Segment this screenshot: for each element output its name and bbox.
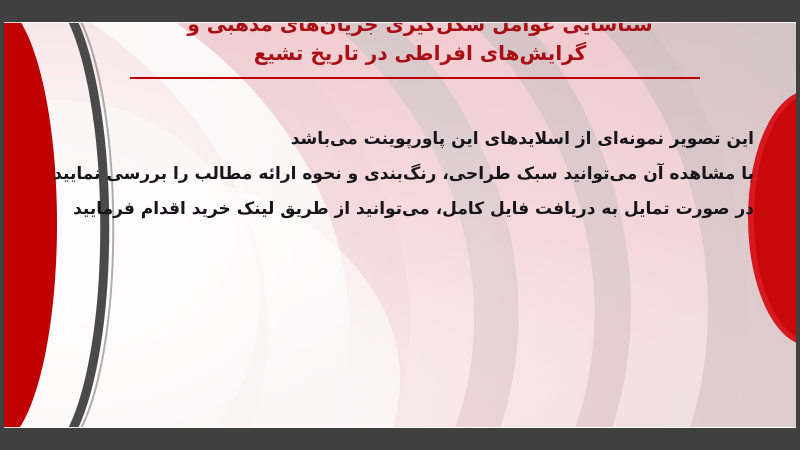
title-underline-rule [130,77,700,79]
frame-border-left [0,0,4,450]
slide-body: این تصویر نمونه‌ای از اسلایدهای این پاور… [94,122,754,227]
frame-border-bottom [0,428,800,450]
slide-canvas: شناسایی عوامل شکل‌گیری جریان‌های مذهبی و… [0,0,800,450]
title-line-2: گرایش‌های افراطی در تاریخ تشیع [110,39,730,68]
frame-border-top [0,0,800,22]
body-line-1: این تصویر نمونه‌ای از اسلایدهای این پاور… [94,122,754,157]
body-line-2: با مشاهده آن می‌توانید سبک طراحی، رنگ‌بن… [94,157,754,192]
body-line-3: در صورت تمایل به دریافت فایل کامل، می‌تو… [94,192,754,227]
frame-border-right [796,0,800,450]
frame-hairline-top [0,22,800,23]
